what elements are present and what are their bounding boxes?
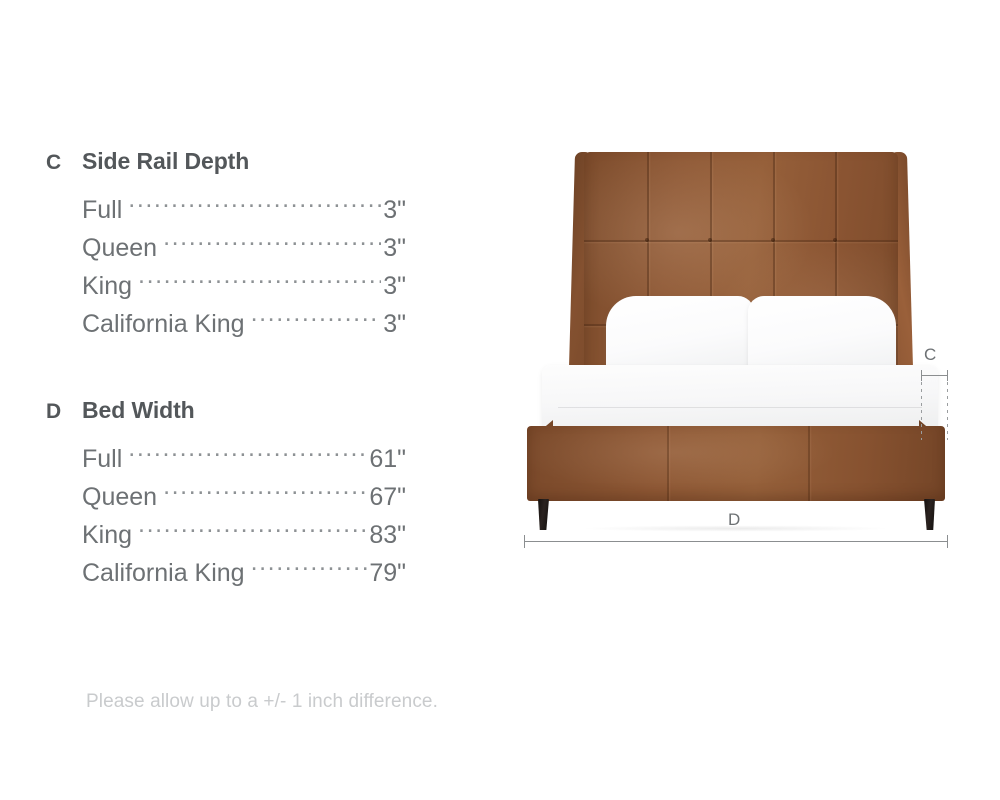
- dimension-tick-d-right: [947, 535, 948, 548]
- spec-heading: C Side Rail Depth: [46, 148, 406, 175]
- bed-illustration: C D: [500, 120, 980, 580]
- dimension-label-d: D: [728, 510, 741, 530]
- dimension-guide-c-left: [921, 382, 922, 440]
- spec-row-label: California King: [82, 554, 245, 592]
- spec-row-value: 3": [383, 191, 406, 229]
- leader-dots: [251, 307, 382, 332]
- spec-letter-d: D: [46, 400, 82, 424]
- spec-heading: D Bed Width: [46, 397, 406, 424]
- leader-dots: [138, 518, 367, 543]
- spec-row-value: 83": [369, 516, 406, 554]
- tuft-button: [645, 238, 649, 242]
- spec-row: Full 3": [82, 191, 406, 229]
- spec-rows-bed-width: Full 61" Queen 67" King 83" California K…: [46, 440, 406, 592]
- spec-row-label: Queen: [82, 229, 157, 267]
- base-seam: [808, 426, 810, 501]
- spec-row-value: 79": [369, 554, 406, 592]
- spec-row-label: King: [82, 516, 132, 554]
- spec-letter-c: C: [46, 151, 82, 175]
- tuft-button: [771, 238, 775, 242]
- pillow-right-icon: [748, 296, 896, 374]
- dimension-label-c: C: [924, 345, 937, 365]
- tuft-seam-horizontal: [584, 240, 898, 242]
- spec-row-label: King: [82, 267, 132, 305]
- spec-title-side-rail-depth: Side Rail Depth: [82, 148, 249, 175]
- spec-rows-side-rail-depth: Full 3" Queen 3" King 3" California King…: [46, 191, 406, 343]
- leader-dots: [128, 442, 367, 467]
- spec-row-label: Queen: [82, 478, 157, 516]
- bed-base-rail-icon: [527, 426, 945, 501]
- spec-row: California King 3": [82, 305, 406, 343]
- pillow-left-icon: [606, 296, 754, 374]
- leader-dots: [128, 193, 381, 218]
- spec-row-label: Full: [82, 440, 122, 478]
- spec-row-value: 67": [369, 478, 406, 516]
- dimension-bar-c: [921, 375, 948, 376]
- spec-row: Queen 67": [82, 478, 406, 516]
- spec-row: King 3": [82, 267, 406, 305]
- spec-row-value: 61": [369, 440, 406, 478]
- spec-row: Queen 3": [82, 229, 406, 267]
- dimension-bar-d: [524, 541, 948, 542]
- dimension-guide-c-right: [947, 382, 948, 440]
- dimension-tick-c-left: [921, 370, 922, 381]
- specifications-panel: C Side Rail Depth Full 3" Queen 3" King …: [46, 148, 406, 592]
- dimension-tick-c-right: [947, 370, 948, 381]
- spec-row: King 83": [82, 516, 406, 554]
- base-seam: [667, 426, 669, 501]
- spec-title-bed-width: Bed Width: [82, 397, 195, 424]
- leader-dots: [163, 480, 367, 505]
- spec-row: Full 61": [82, 440, 406, 478]
- spec-row-value: 3": [383, 229, 406, 267]
- spec-group-bed-width: D Bed Width Full 61" Queen 67" King 83" …: [46, 397, 406, 592]
- leader-dots: [163, 231, 381, 256]
- spec-row-value: 3": [383, 305, 406, 343]
- tuft-button: [833, 238, 837, 242]
- leader-dots: [251, 556, 368, 581]
- dimension-tick-d-left: [524, 535, 525, 548]
- spec-row-value: 3": [383, 267, 406, 305]
- tuft-button: [708, 238, 712, 242]
- spec-row-label: California King: [82, 305, 245, 343]
- spec-row-label: Full: [82, 191, 122, 229]
- spec-group-side-rail-depth: C Side Rail Depth Full 3" Queen 3" King …: [46, 148, 406, 343]
- leader-dots: [138, 269, 381, 294]
- spec-row: California King 79": [82, 554, 406, 592]
- disclaimer-footnote: Please allow up to a +/- 1 inch differen…: [86, 691, 438, 713]
